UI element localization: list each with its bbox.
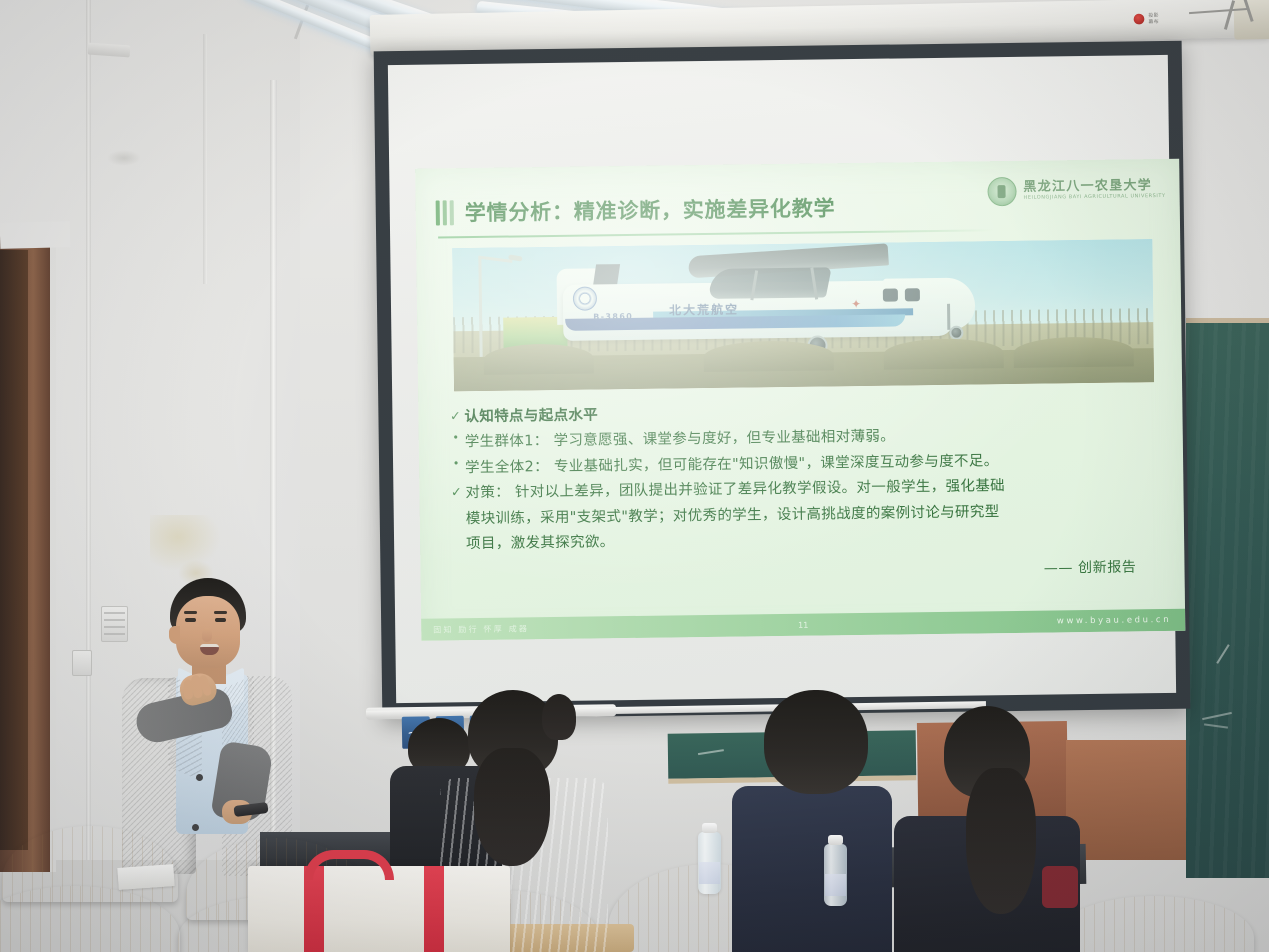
check-icon: ✓ [447,483,465,504]
bottle-label [825,874,846,896]
wall-socket[interactable] [72,650,92,676]
aircraft-wheel [949,326,963,340]
slide-photo-aircraft: B-3860 北大荒航空 ✦ [452,239,1154,391]
wooden-cabinet [1066,740,1186,860]
presenter-eye [185,618,196,622]
shoulder-patch [1042,866,1078,908]
slide-attribution: —— 创新报告 [448,556,1162,585]
slide-body: ✓ 认知特点与起点水平 • 学生群体1： 学习意愿强、课堂参与度好，但专业基础相… [446,397,1162,585]
water-bottle [824,844,847,906]
footer-url: www.byau.edu.cn [1057,615,1171,626]
dot-icon: • [447,457,465,472]
aircraft-strut [947,304,950,330]
presenter-eye [215,618,226,622]
chalkboard [1186,318,1269,878]
ponytail [474,748,550,866]
lecture-hall-scene: 投影 幕布 学情分析：精准诊断，实施差异化教学 [0,0,1269,952]
water-bottle [698,832,721,894]
photo-shrub [484,343,594,374]
wall-seam [203,34,207,284]
ponytail [966,768,1036,914]
university-name-block: 黑龙江八一农垦大学 HEILONGJIANG BAYI AGRICULTURAL… [1023,179,1165,202]
jacket-button [196,774,203,781]
dot-icon: • [447,432,465,447]
bullet-text: 学生群体1： 学习意愿强、课堂参与度好，但专业基础相对薄弱。 [465,426,896,455]
hair-bun [542,694,576,740]
head [764,690,868,794]
presenter-eyebrow [214,611,227,614]
aircraft-registration: B-3860 [593,312,633,322]
brand-mark-icon [1134,14,1145,25]
chalk-mark [698,749,724,755]
aircraft-logo-icon: ✦ [851,297,861,311]
aircraft-operator-name: 北大荒航空 [669,301,739,319]
bottle-label [699,862,720,884]
check-icon: ✓ [446,406,464,427]
tote-strap [424,866,444,952]
university-seal-icon [987,177,1016,206]
jacket-button [192,824,199,831]
presenter-eyebrow [184,611,197,614]
bottle-cap [828,835,843,845]
photo-shrub [703,340,833,372]
photo-shrub [1013,336,1133,368]
presenter-ear [169,626,180,644]
photo-shrub [883,338,1003,370]
wall-smudge [107,150,141,166]
screen-surface: 学情分析：精准诊断，实施差异化教学 黑龙江八一农垦大学 HEILONGJIANG… [388,55,1176,703]
university-logo: 黑龙江八一农垦大学 HEILONGJIANG BAYI AGRICULTURAL… [987,175,1165,206]
bullet-text-strong: 认知特点与起点水平 [464,407,598,425]
projection-screen: 学情分析：精准诊断，实施差异化教学 黑龙江八一农垦大学 HEILONGJIANG… [374,41,1191,720]
slide-title: 学情分析：精准诊断，实施差异化教学 [465,192,836,227]
notebook-on-desk [117,864,174,890]
chalk-streaks [1186,323,1269,878]
housing-brand-logo: 投影 幕布 [1134,13,1159,26]
tote-bag [248,866,510,952]
bullet-text: 认知特点与起点水平 [464,404,598,429]
brand-line-1: 投影 [1149,13,1159,19]
presentation-slide: 学情分析：精准诊断，实施差异化教学 黑龙江八一农垦大学 HEILONGJIANG… [415,159,1185,641]
slide-page-number: 11 [798,620,808,629]
university-name-en: HEILONGJIANG BAYI AGRICULTURAL UNIVERSIT… [1023,194,1165,202]
aircraft-window [883,288,898,301]
slide-footer: 固知 励行 怀厚 成器 11 www.byau.edu.cn [421,609,1185,641]
title-accent-bars-icon [436,200,454,225]
torso [732,786,892,952]
footer-motto: 固知 励行 怀厚 成器 [433,623,529,635]
door-panel [0,250,28,850]
door-casing [0,221,70,249]
bottle-cap [702,823,717,833]
tote-handle [304,850,394,880]
brand-text: 投影 幕布 [1149,13,1160,26]
presenter-nose [202,628,212,642]
brand-line-2: 幕布 [1149,19,1159,25]
wall-seam [86,0,91,860]
bullet-text: 项目，激发其探究欲。 [466,532,615,557]
aircraft-window [905,288,920,301]
